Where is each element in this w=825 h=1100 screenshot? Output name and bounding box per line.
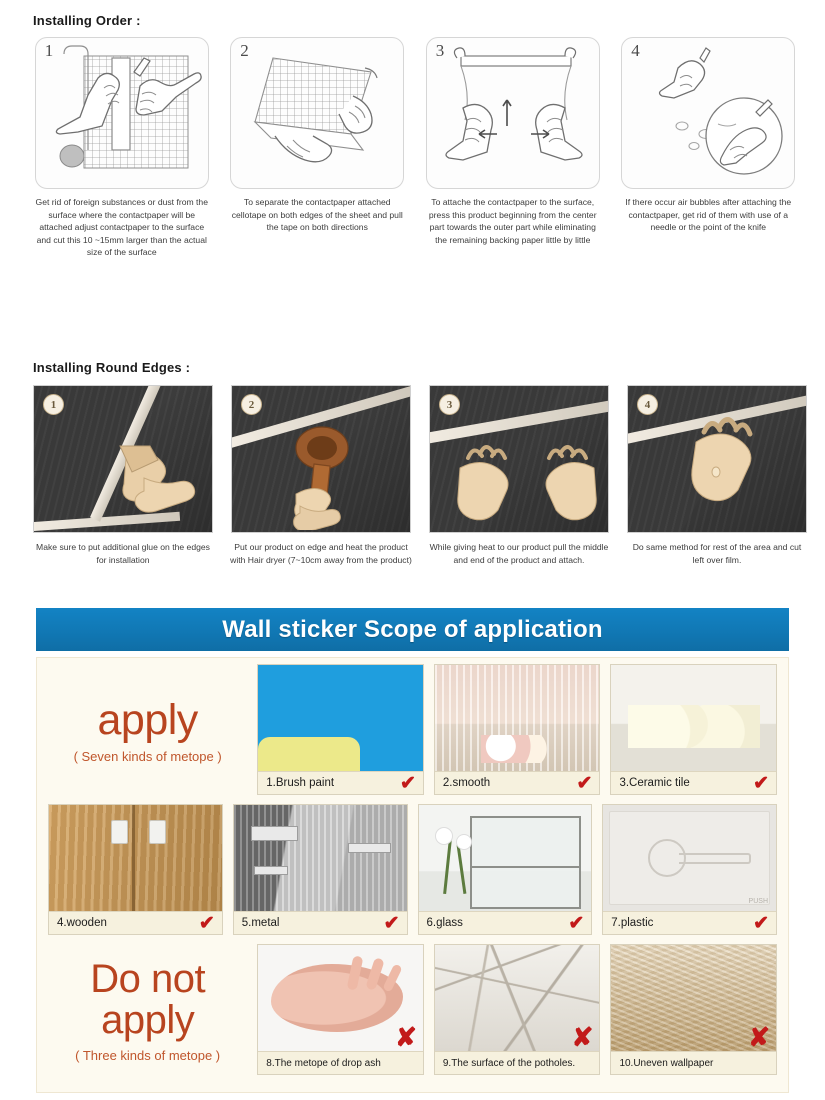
pop-air-bubbles-illustration (622, 38, 795, 189)
order-step-4: 4 If there occur a (620, 37, 798, 259)
tile-potholes: ✘ 9.The surface of the potholes. (434, 944, 601, 1075)
window-pane (470, 866, 581, 908)
tile-smooth: 2.smooth ✔ (434, 664, 601, 795)
tile-potholes-label: 9.The surface of the potholes. (443, 1058, 575, 1069)
brush-paint-image (258, 665, 423, 771)
wood-door-photo (49, 805, 222, 911)
do-not-apply-row: Do not apply ( Three kinds of metope ) ✘… (37, 938, 788, 1078)
ceramic-tile-photo (611, 665, 776, 771)
installing-order-steps: 1 (0, 28, 825, 259)
order-step-2-number: 2 (240, 41, 249, 61)
key-shaft-icon (679, 853, 751, 864)
glass-image (419, 805, 592, 911)
uneven-wallpaper-image: ✘ (611, 945, 776, 1051)
tile-ceramic-label-bar: 3.Ceramic tile ✔ (611, 771, 776, 794)
tile-uneven-wallpaper-label: 10.Uneven wallpaper (619, 1058, 713, 1069)
tile-metal-label: 5.metal (242, 917, 280, 929)
hand-with-glue-applicator (110, 428, 206, 524)
tile-wooden-label: 4.wooden (57, 917, 107, 929)
order-step-4-caption: If there occur air bubbles after attachi… (620, 196, 796, 234)
metal-image (234, 805, 407, 911)
tile-smooth-label: 2.smooth (443, 777, 490, 789)
tile-potholes-label-bar: 9.The surface of the potholes. (435, 1051, 600, 1074)
order-step-2-illustration: 2 (230, 37, 404, 189)
order-step-2: 2 (229, 37, 407, 259)
round-edge-step-3-caption: While giving heat to our product pull th… (428, 541, 610, 566)
tile-drop-ash: ✘ 8.The metope of drop ash (257, 944, 424, 1075)
tile-plastic-label: 7.plastic (611, 917, 653, 929)
white-flower (457, 835, 471, 849)
wooden-image (49, 805, 222, 911)
tile-plastic-label-bar: 7.plastic ✔ (603, 911, 776, 934)
round-edge-step-1: 1 Make sure to put additional glue on th… (33, 385, 213, 566)
round-edge-step-3-badge: 3 (439, 394, 460, 415)
round-edge-step-4-badge: 4 (637, 394, 658, 415)
round-edge-step-1-photo: 1 (33, 385, 213, 533)
check-icon: ✔ (577, 774, 593, 793)
cross-icon: ✘ (748, 1028, 770, 1047)
apply-title: apply (97, 698, 197, 742)
do-not-apply-subtitle: ( Three kinds of metope ) (75, 1048, 220, 1063)
door-handle (111, 820, 128, 844)
smooth-surface-image (435, 665, 600, 771)
smooth-wall-photo (435, 665, 600, 771)
round-edge-step-2-photo: 2 (231, 385, 411, 533)
hand-smoothing-film (676, 416, 796, 528)
tile-drop-ash-label-bar: 8.The metope of drop ash (258, 1051, 423, 1074)
tile-glass-label: 6.glass (427, 917, 463, 929)
check-icon: ✔ (753, 914, 769, 933)
peel-backing-illustration (231, 38, 404, 189)
tile-ceramic-label: 3.Ceramic tile (619, 777, 689, 789)
tile-wooden-label-bar: 4.wooden ✔ (49, 911, 222, 934)
apply-legend: apply ( Seven kinds of metope ) (43, 664, 252, 798)
apply-subtitle: ( Seven kinds of metope ) (74, 749, 222, 764)
round-edge-step-2: 2 Put our product on edge and heat the p… (231, 385, 411, 566)
tile-uneven-wallpaper: ✘ 10.Uneven wallpaper (610, 944, 777, 1075)
tile-smooth-label-bar: 2.smooth ✔ (435, 771, 600, 794)
check-icon: ✔ (568, 914, 584, 933)
order-step-3-illustration: 3 (426, 37, 600, 189)
metal-handle (348, 843, 391, 852)
tile-metal: 5.metal ✔ (233, 804, 408, 935)
metal-vent (254, 866, 287, 874)
round-edge-step-2-caption: Put our product on edge and heat the pro… (230, 541, 412, 566)
order-step-3-number: 3 (436, 41, 445, 61)
tile-ceramic-tile: 3.Ceramic tile ✔ (610, 664, 777, 795)
apply-row-1: apply ( Seven kinds of metope ) 1.Brush … (37, 658, 788, 798)
round-edge-step-4: 4 Do same method for rest of the area an… (627, 385, 807, 566)
tile-brush-paint-label-bar: 1.Brush paint ✔ (258, 771, 423, 794)
order-step-4-number: 4 (631, 41, 640, 61)
round-edges-section: Installing Round Edges : 1 (0, 360, 825, 566)
tile-brush-paint: 1.Brush paint ✔ (257, 664, 424, 795)
instruction-sheet: Installing Order : 1 (0, 0, 825, 1100)
press-from-center-illustration (427, 38, 600, 189)
tile-metal-label-bar: 5.metal ✔ (234, 911, 407, 934)
tile-glass-label-bar: 6.glass ✔ (419, 911, 592, 934)
scope-banner-title: Wall sticker Scope of application (222, 616, 602, 644)
surface-cleaning-illustration (36, 38, 209, 189)
order-step-2-caption: To separate the contactpaper attached ce… (229, 196, 405, 234)
check-icon: ✔ (199, 914, 215, 933)
round-edge-step-3-photo: 3 (429, 385, 609, 533)
white-flower (436, 828, 452, 844)
do-not-apply-title-line1: Do not (90, 959, 205, 1000)
window-pane (470, 816, 581, 869)
round-edges-heading: Installing Round Edges : (0, 360, 825, 375)
round-edge-step-4-caption: Do same method for rest of the area and … (626, 541, 808, 566)
check-icon: ✔ (753, 774, 769, 793)
order-step-3: 3 To attache the c (424, 37, 602, 259)
tile-wooden: 4.wooden ✔ (48, 804, 223, 935)
cross-icon: ✘ (572, 1028, 594, 1047)
drop-ash-image: ✘ (258, 945, 423, 1051)
installing-order-heading: Installing Order : (0, 13, 825, 28)
door-handle (149, 820, 166, 844)
refrigerator-photo (234, 805, 407, 911)
round-edge-step-1-caption: Make sure to put additional glue on the … (32, 541, 214, 566)
potholes-image: ✘ (435, 945, 600, 1051)
two-hands-pulling-film (452, 438, 602, 533)
plastic-image: PUSH (603, 805, 776, 911)
check-icon: ✔ (400, 774, 416, 793)
scope-banner: Wall sticker Scope of application (36, 608, 789, 651)
scope-of-application-area: apply ( Seven kinds of metope ) 1.Brush … (36, 657, 789, 1093)
tile-glass: 6.glass ✔ (418, 804, 593, 935)
order-step-1-number: 1 (45, 41, 54, 61)
do-not-apply-title-line2: apply (101, 1000, 194, 1041)
tile-uneven-wallpaper-label-bar: 10.Uneven wallpaper (611, 1051, 776, 1074)
cross-icon: ✘ (395, 1028, 417, 1047)
round-edge-step-2-badge: 2 (241, 394, 262, 415)
round-edges-steps: 1 Make sure to put additional glue on th… (0, 375, 825, 566)
round-edge-step-1-badge: 1 (43, 394, 64, 415)
tile-drop-ash-label: 8.The metope of drop ash (266, 1058, 381, 1069)
metal-panel (251, 826, 298, 841)
ceramic-tile-image (611, 665, 776, 771)
order-step-1-illustration: 1 (35, 37, 209, 189)
installing-order-section: Installing Order : 1 (0, 13, 825, 259)
round-edge-step-4-photo: 4 (627, 385, 807, 533)
push-label: PUSH (749, 898, 768, 905)
do-not-apply-legend: Do not apply ( Three kinds of metope ) (43, 944, 252, 1078)
tile-brush-paint-label: 1.Brush paint (266, 777, 334, 789)
order-step-1-caption: Get rid of foreign substances or dust fr… (34, 196, 210, 259)
blue-painted-wall (258, 665, 423, 771)
round-edge-step-3: 3 While giving heat to our product pull … (429, 385, 609, 566)
tile-plastic: PUSH 7.plastic ✔ (602, 804, 777, 935)
check-icon: ✔ (384, 914, 400, 933)
hair-dryer-and-hand (266, 420, 396, 530)
order-step-1: 1 (33, 37, 211, 259)
apply-row-2: 4.wooden ✔ 5.metal ✔ (37, 798, 788, 938)
order-step-3-caption: To attache the contactpaper to the surfa… (425, 196, 601, 246)
palm-shape (271, 964, 403, 1032)
order-step-4-illustration: 4 (621, 37, 795, 189)
